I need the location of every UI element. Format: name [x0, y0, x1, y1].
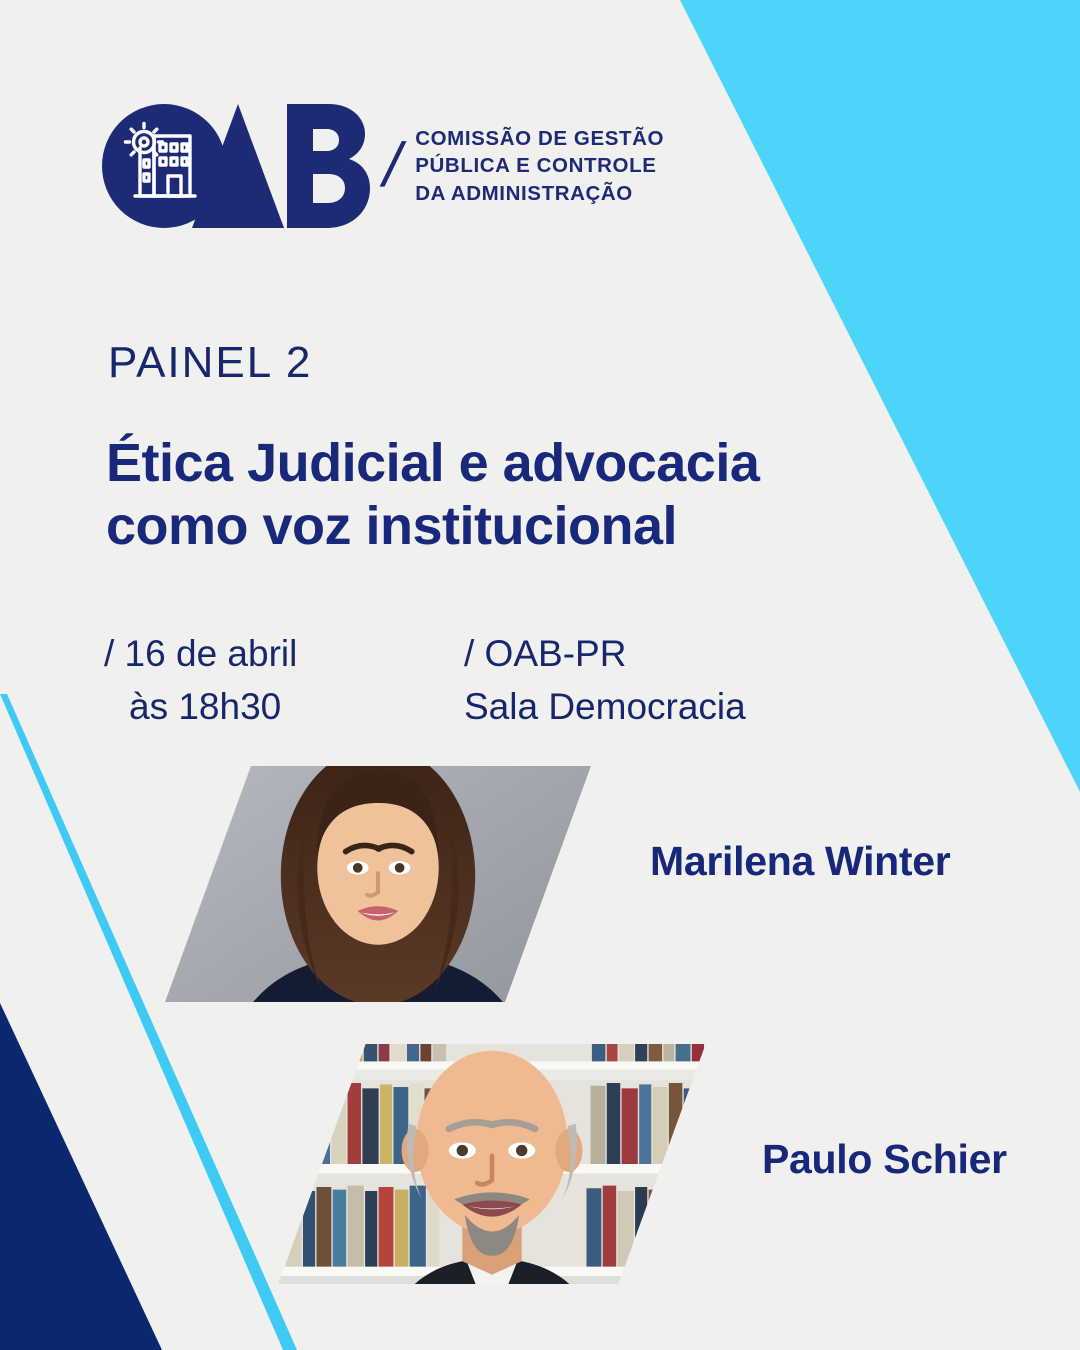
logo-divider-slash: /: [378, 138, 407, 194]
oab-logo-mark: [102, 104, 370, 228]
speaker-photo-1-inner: [165, 766, 591, 1002]
event-date-line-2: às 18h30: [104, 681, 464, 734]
page-title-line-2: como voz institucional: [106, 495, 916, 558]
event-place-line-1: / OAB-PR: [464, 628, 746, 681]
speaker-photo-marilena-winter: [165, 766, 591, 1002]
logo-subtitle-lines: COMISSÃO DE GESTÃO PÚBLICA E CONTROLE DA…: [415, 125, 664, 206]
speaker-2-illustration: [278, 1044, 705, 1284]
event-place-line-2: Sala Democracia: [464, 681, 746, 734]
logo-subtitle-line-1: COMISSÃO DE GESTÃO: [415, 125, 664, 152]
speaker-photo-2-inner: [278, 1044, 705, 1284]
event-place: / OAB-PR Sala Democracia: [464, 628, 746, 733]
event-date-line-1: / 16 de abril: [104, 628, 464, 681]
page-title-line-1: Ética Judicial e advocacia: [106, 432, 916, 495]
logo-subtitle-line-2: PÚBLICA E CONTROLE: [415, 152, 664, 179]
speaker-name-2: Paulo Schier: [762, 1136, 1007, 1183]
speaker-photo-paulo-schier: [278, 1044, 705, 1284]
panel-label: PAINEL 2: [108, 338, 312, 388]
speaker-1-illustration: [165, 766, 591, 1002]
logo-b-letter: [287, 104, 370, 228]
logo-subtitle-line-3: DA ADMINISTRAÇÃO: [415, 180, 664, 207]
speaker-name-1: Marilena Winter: [650, 838, 950, 885]
navy-wedge: [0, 1003, 162, 1350]
event-date: / 16 de abril às 18h30: [104, 628, 464, 733]
event-meta: / 16 de abril às 18h30 / OAB-PR Sala Dem…: [104, 628, 746, 733]
oab-logo: / COMISSÃO DE GESTÃO PÚBLICA E CONTROLE …: [102, 104, 664, 228]
event-poster: / COMISSÃO DE GESTÃO PÚBLICA E CONTROLE …: [0, 0, 1080, 1350]
page-title: Ética Judicial e advocacia como voz inst…: [106, 432, 916, 557]
logo-subtitle-block: / COMISSÃO DE GESTÃO PÚBLICA E CONTROLE …: [384, 125, 664, 206]
